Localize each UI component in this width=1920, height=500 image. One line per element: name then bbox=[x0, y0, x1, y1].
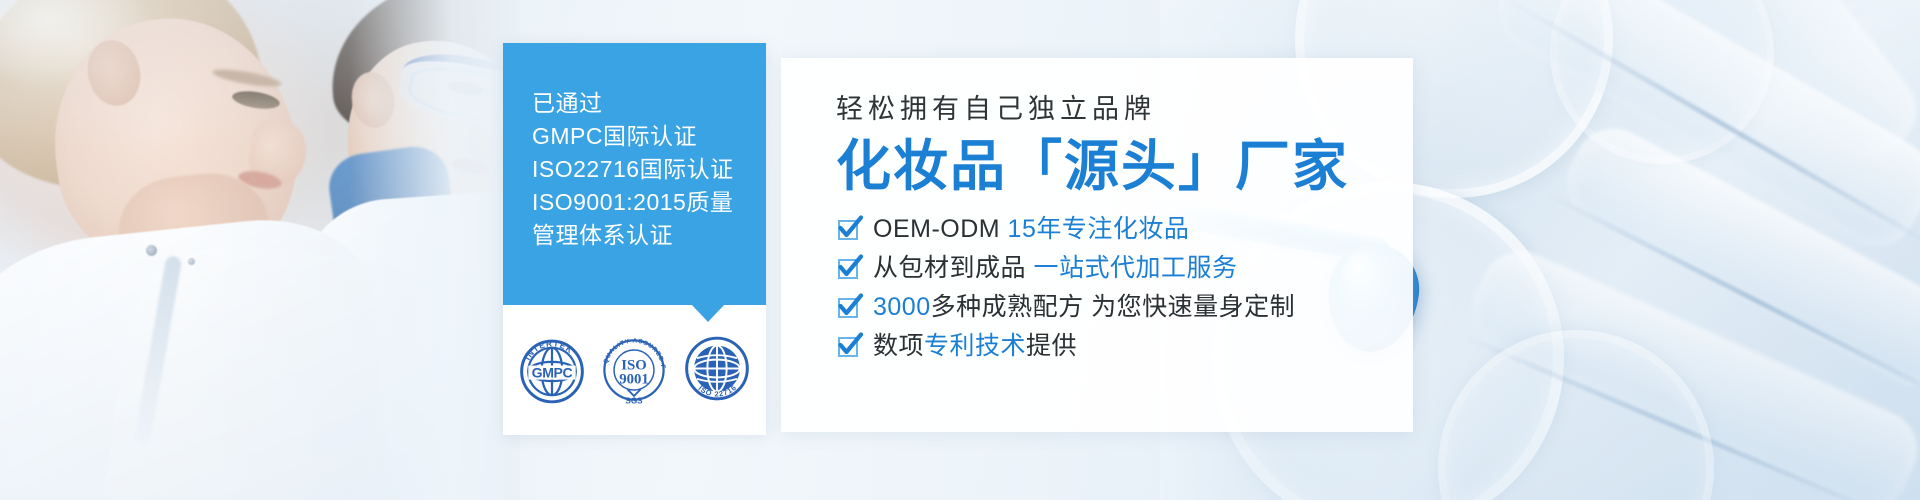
feature-list: OEM-ODM 15年专注化妆品 从包材到成品 一站式代加工服务 3000多种成… bbox=[836, 216, 1413, 359]
feature-text-2: 从包材到成品 一站式代加工服务 bbox=[873, 256, 1237, 281]
svg-text:INTERTEK: INTERTEK bbox=[523, 339, 575, 362]
certification-blue-block: 已通过 GMPC国际认证 ISO22716国际认证 ISO9001:2015质量… bbox=[503, 43, 766, 305]
certification-line-2: GMPC国际认证 bbox=[532, 120, 756, 153]
iso-22716-logo: ISO 22716 bbox=[680, 333, 754, 407]
svg-text:GMPC: GMPC bbox=[532, 364, 573, 380]
down-arrow-icon bbox=[691, 304, 725, 322]
certification-logos: INTERTEK GMPC QUALITY ASSURED FIRM ISO 9… bbox=[503, 305, 766, 435]
certification-card: 已通过 GMPC国际认证 ISO22716国际认证 ISO9001:2015质量… bbox=[503, 43, 766, 435]
svg-text:9001: 9001 bbox=[620, 371, 650, 387]
list-item: 从包材到成品 一站式代加工服务 bbox=[836, 255, 1413, 281]
list-item: 数项专利技术提供 bbox=[836, 333, 1413, 359]
panel-subtitle: 轻松拥有自己独立品牌 bbox=[836, 96, 1413, 123]
certification-line-3: ISO22716国际认证 bbox=[532, 153, 756, 186]
panel-headline: 化妆品「源头」厂家 bbox=[836, 137, 1413, 196]
certification-text-block: 已通过 GMPC国际认证 ISO22716国际认证 ISO9001:2015质量… bbox=[532, 87, 756, 252]
checkbox-check-icon bbox=[836, 294, 862, 320]
feature-text-4: 数项专利技术提供 bbox=[873, 334, 1077, 359]
svg-text:SGS: SGS bbox=[626, 396, 644, 405]
iso-9001-sgs-logo: QUALITY ASSURED FIRM ISO 9001 SGS bbox=[597, 333, 671, 407]
certification-line-4: ISO9001:2015质量 bbox=[532, 186, 756, 219]
checkbox-check-icon bbox=[836, 255, 862, 281]
promo-banner: 已通过 GMPC国际认证 ISO22716国际认证 ISO9001:2015质量… bbox=[0, 0, 1920, 500]
list-item: 3000多种成熟配方 为您快速量身定制 bbox=[836, 294, 1413, 320]
main-content-panel: 轻松拥有自己独立品牌 化妆品「源头」厂家 OEM-ODM 15年专注化妆品 从包… bbox=[781, 58, 1413, 432]
certification-line-5: 管理体系认证 bbox=[532, 219, 756, 252]
checkbox-check-icon bbox=[836, 333, 862, 359]
feature-text-1: OEM-ODM 15年专注化妆品 bbox=[873, 217, 1189, 242]
lab-scientists-photo bbox=[0, 0, 520, 500]
certification-line-1: 已通过 bbox=[532, 87, 756, 120]
list-item: OEM-ODM 15年专注化妆品 bbox=[836, 216, 1413, 242]
checkbox-check-icon bbox=[836, 216, 862, 242]
intertek-gmpc-logo: INTERTEK GMPC bbox=[515, 333, 589, 407]
feature-text-3: 3000多种成熟配方 为您快速量身定制 bbox=[873, 295, 1295, 320]
